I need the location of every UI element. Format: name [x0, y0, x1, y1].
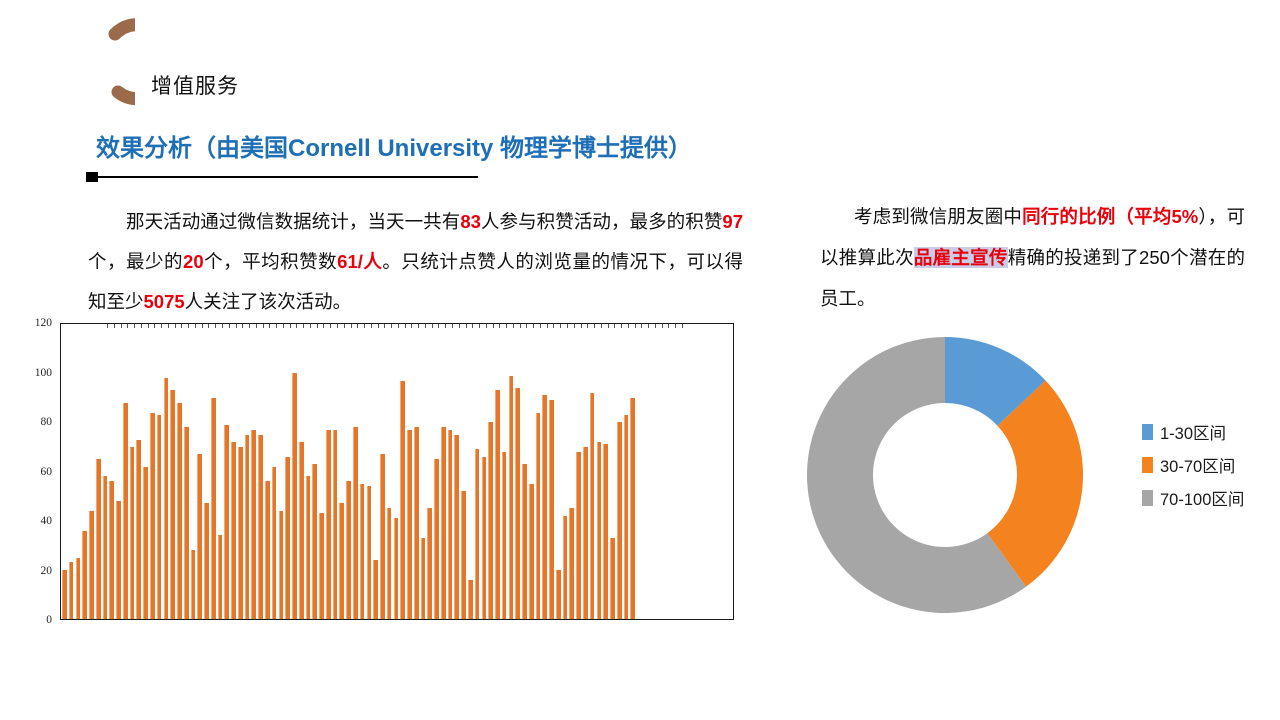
x-axis-tick [317, 324, 318, 328]
x-axis-tick [114, 324, 115, 328]
bar [312, 464, 317, 619]
bar [346, 481, 351, 619]
x-axis-tick [127, 324, 128, 328]
bar [218, 535, 223, 619]
x-axis-tick [601, 324, 602, 328]
bar [96, 459, 101, 619]
x-axis-tick [466, 324, 467, 328]
x-axis-tick [283, 324, 284, 328]
highlight-phrase: 同行的比例（平均 [1022, 206, 1171, 227]
x-axis-tick [208, 324, 209, 328]
bar [89, 511, 94, 619]
bar [123, 403, 128, 619]
x-axis-tick [229, 324, 230, 328]
bar [373, 560, 378, 619]
legend-swatch [1142, 424, 1153, 440]
bar [177, 403, 182, 619]
bar [468, 580, 473, 619]
x-axis-tick [540, 324, 541, 328]
bar [231, 442, 236, 619]
bar [414, 427, 419, 619]
bar [583, 447, 588, 619]
x-axis-tick [175, 324, 176, 328]
bar [191, 550, 196, 619]
x-axis-tick [168, 324, 169, 328]
x-axis-tick [438, 324, 439, 328]
bar [339, 503, 344, 619]
bar [441, 427, 446, 619]
x-axis-tick [587, 324, 588, 328]
x-axis-tick [553, 324, 554, 328]
x-axis-tick [195, 324, 196, 328]
bar [272, 467, 277, 619]
bar [319, 513, 324, 619]
paragraph-right: 考虑到微信朋友圈中同行的比例（平均5%），可以推算此次品雇主宣传精确的投递到了2… [820, 196, 1245, 319]
x-axis-tick [330, 324, 331, 328]
bar [238, 447, 243, 619]
x-axis-tick [594, 324, 595, 328]
legend-label: 1-30区间 [1160, 420, 1226, 444]
x-axis-tick [513, 324, 514, 328]
badge-label: 增值服务 [151, 70, 239, 100]
bar [522, 464, 527, 619]
legend-label: 30-70区间 [1160, 453, 1235, 477]
legend-swatch [1142, 457, 1153, 473]
text-run: 人关注了该次活动。 [185, 291, 352, 312]
text-run: 人参与积赞活动，最多的积赞 [481, 211, 723, 232]
bar [556, 570, 561, 619]
x-axis-tick [202, 324, 203, 328]
bar [150, 413, 155, 620]
bar [509, 376, 514, 619]
paragraph-left: 那天活动通过微信数据统计，当天一共有83人参与积赞活动，最多的积赞97个，最少的… [88, 202, 743, 322]
x-axis-tick [405, 324, 406, 328]
bar [515, 388, 520, 619]
bar [184, 427, 189, 619]
bar [597, 442, 602, 619]
bar [245, 435, 250, 619]
bar [157, 415, 162, 619]
x-axis-tick [290, 324, 291, 328]
donut-chart-legend: 1-30区间30-70区间70-100区间 [1142, 415, 1244, 514]
x-axis-tick [351, 324, 352, 328]
bar [116, 501, 121, 619]
bar [333, 430, 338, 619]
x-axis-tick [236, 324, 237, 328]
x-axis-tick [682, 324, 683, 328]
x-axis-tick [121, 324, 122, 328]
x-axis-tick [256, 324, 257, 328]
x-axis-tick [418, 324, 419, 328]
x-axis-tick [567, 324, 568, 328]
bar [475, 449, 480, 619]
bar [130, 447, 135, 619]
y-axis-tick-label: 20 [41, 565, 53, 577]
x-axis-tick [263, 324, 264, 328]
bar [82, 531, 87, 620]
bar-chart-y-axis: 020406080100120 [14, 318, 58, 648]
x-axis-tick [452, 324, 453, 328]
bar [62, 570, 67, 619]
text-run: 个，最少的 [88, 251, 183, 272]
highlight-number: 61/人 [337, 251, 382, 272]
x-axis-tick [432, 324, 433, 328]
bar [590, 393, 595, 619]
bar [536, 413, 541, 620]
x-axis-tick [391, 324, 392, 328]
x-axis-tick [141, 324, 142, 328]
x-axis-tick [357, 324, 358, 328]
text-run: 那天活动通过微信数据统计，当天一共有 [126, 211, 460, 232]
x-axis-tick [222, 324, 223, 328]
y-axis-tick-label: 60 [41, 466, 53, 478]
header-badge: 增值服务 [55, 18, 285, 113]
highlight-number: 20 [183, 251, 204, 272]
highlight-number: 5075 [144, 291, 185, 312]
x-axis-tick [472, 324, 473, 328]
bar [495, 390, 500, 619]
bar [292, 373, 297, 619]
x-axis-tick [668, 324, 669, 328]
x-axis-tick [445, 324, 446, 328]
donut-chart: 1-30区间30-70区间70-100区间 [800, 320, 1280, 620]
donut-chart-svg [800, 330, 1090, 620]
x-axis-tick [648, 324, 649, 328]
bar [569, 508, 574, 619]
bar [394, 518, 399, 619]
bar [400, 381, 405, 619]
bar [488, 422, 493, 619]
bar [143, 467, 148, 619]
x-axis-tick [344, 324, 345, 328]
bar [279, 511, 284, 619]
bar-chart: 020406080100120 [14, 318, 742, 648]
slide-canvas: 增值服务 效果分析（由美国Cornell University 物理学博士提供）… [0, 0, 1280, 720]
x-axis-tick [154, 324, 155, 328]
x-axis-tick [371, 324, 372, 328]
bar [285, 457, 290, 619]
x-axis-tick [337, 324, 338, 328]
bar [617, 422, 622, 619]
x-axis-tick [134, 324, 135, 328]
legend-item[interactable]: 1-30区间 [1142, 415, 1244, 448]
x-axis-tick [526, 324, 527, 328]
bar [542, 395, 547, 619]
x-axis-tick [533, 324, 534, 328]
x-axis-tick [662, 324, 663, 328]
x-axis-tick [384, 324, 385, 328]
x-axis-tick [486, 324, 487, 328]
page-title: 效果分析（由美国Cornell University 物理学博士提供） [96, 128, 692, 163]
x-axis-tick [310, 324, 311, 328]
x-axis-tick [641, 324, 642, 328]
bar [576, 452, 581, 619]
bar [610, 538, 615, 619]
x-axis-tick [621, 324, 622, 328]
bar [224, 425, 229, 619]
highlight-marked-phrase: 品雇主宣传 [914, 247, 1008, 268]
bar-chart-x-ticks [107, 324, 725, 329]
legend-swatch [1142, 490, 1153, 506]
y-axis-tick-label: 40 [41, 515, 53, 527]
x-axis-tick [675, 324, 676, 328]
x-axis-tick [378, 324, 379, 328]
x-axis-tick [635, 324, 636, 328]
bar [549, 400, 554, 619]
x-axis-tick [364, 324, 365, 328]
x-axis-tick [161, 324, 162, 328]
x-axis-tick [614, 324, 615, 328]
bar [109, 481, 114, 619]
bar [529, 484, 534, 619]
bar [299, 442, 304, 619]
x-axis-tick [560, 324, 561, 328]
x-axis-tick [493, 324, 494, 328]
bar [380, 454, 385, 619]
bar [306, 476, 311, 619]
x-axis-tick [655, 324, 656, 328]
broken-ring-icon [55, 18, 135, 106]
rule-line [98, 176, 478, 178]
bar-chart-plot-area [60, 323, 734, 620]
bar [448, 430, 453, 619]
x-axis-tick [242, 324, 243, 328]
x-axis-tick [608, 324, 609, 328]
x-axis-tick [411, 324, 412, 328]
bar [502, 452, 507, 619]
bar [164, 378, 169, 619]
x-axis-tick [249, 324, 250, 328]
x-axis-tick [323, 324, 324, 328]
x-axis-tick [499, 324, 500, 328]
x-axis-tick [506, 324, 507, 328]
text-run: 个，平均积赞数 [204, 251, 338, 272]
x-axis-tick [628, 324, 629, 328]
bar [258, 435, 263, 619]
x-axis-tick [107, 324, 108, 328]
bar [211, 398, 216, 619]
bar [353, 427, 358, 619]
bar [265, 481, 270, 619]
bar [624, 415, 629, 619]
bar [603, 444, 608, 619]
y-axis-tick-label: 100 [35, 367, 52, 379]
bar [407, 430, 412, 619]
bar [136, 440, 141, 619]
bar [69, 562, 74, 619]
x-axis-tick [479, 324, 480, 328]
bar [197, 454, 202, 619]
x-axis-tick [574, 324, 575, 328]
x-axis-tick [269, 324, 270, 328]
bar [482, 457, 487, 619]
bar [563, 516, 568, 619]
bar [204, 503, 209, 619]
x-axis-tick [296, 324, 297, 328]
bar [103, 476, 108, 619]
bar [367, 486, 372, 619]
bar [461, 491, 466, 619]
x-axis-tick [181, 324, 182, 328]
bar [387, 508, 392, 619]
bar [326, 430, 331, 619]
y-axis-tick-label: 80 [41, 416, 53, 428]
x-axis-tick [547, 324, 548, 328]
highlight-number: 5% [1171, 206, 1198, 227]
rule-square-marker [86, 172, 98, 182]
legend-item[interactable]: 70-100区间 [1142, 481, 1244, 514]
bar [170, 390, 175, 619]
x-axis-tick [188, 324, 189, 328]
legend-label: 70-100区间 [1160, 486, 1244, 510]
bar [630, 398, 635, 619]
y-axis-tick-label: 120 [35, 317, 52, 329]
bar [427, 508, 432, 619]
text-run: 考虑到微信朋友圈中 [854, 206, 1022, 227]
x-axis-tick [459, 324, 460, 328]
x-axis-tick [520, 324, 521, 328]
x-axis-tick [215, 324, 216, 328]
bar [76, 558, 81, 619]
x-axis-tick [148, 324, 149, 328]
legend-item[interactable]: 30-70区间 [1142, 448, 1244, 481]
bar [421, 538, 426, 619]
x-axis-tick [398, 324, 399, 328]
title-underline-rule [86, 170, 478, 182]
bar [454, 435, 459, 619]
x-axis-tick [581, 324, 582, 328]
x-axis-tick [303, 324, 304, 328]
bar [251, 430, 256, 619]
x-axis-tick [276, 324, 277, 328]
bar [360, 484, 365, 619]
highlight-number: 97 [722, 211, 743, 232]
bar-series [61, 324, 636, 619]
bar [434, 459, 439, 619]
highlight-number: 83 [460, 211, 481, 232]
x-axis-tick [425, 324, 426, 328]
y-axis-tick-label: 0 [46, 614, 52, 626]
